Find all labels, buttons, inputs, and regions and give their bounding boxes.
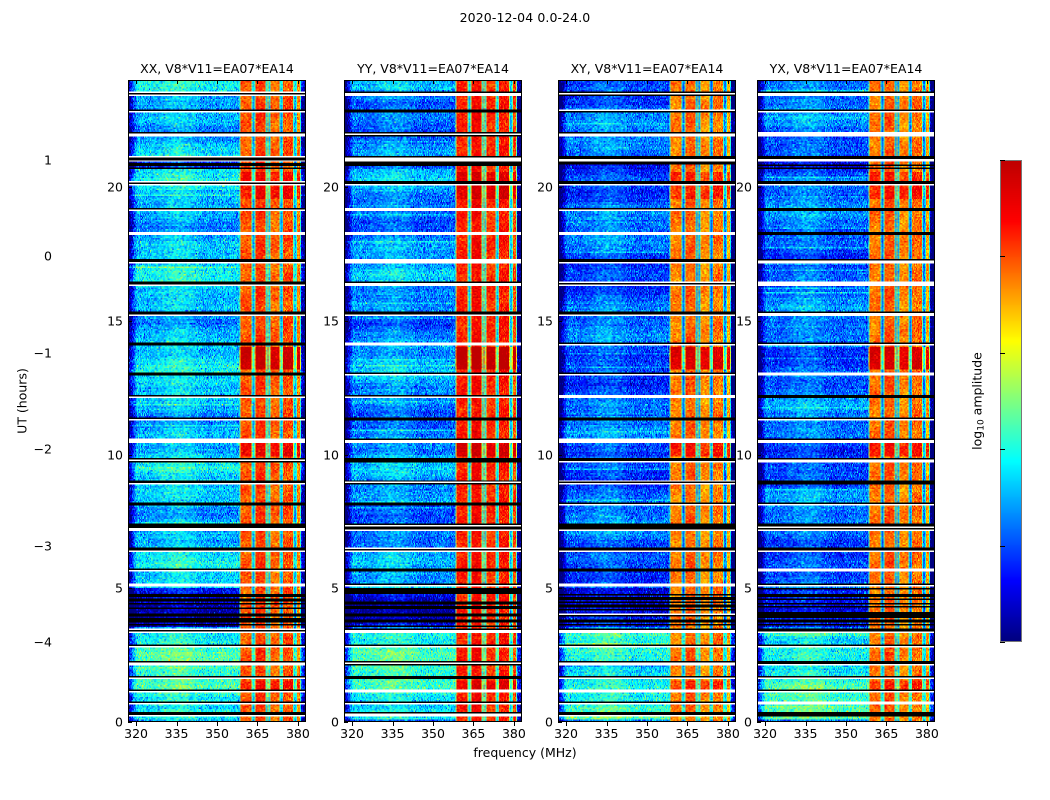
x-tick-label: 380: [502, 726, 526, 741]
y-tick-label: 0: [115, 715, 123, 730]
x-tick-mark-top: [433, 80, 434, 84]
x-tick-label: 380: [286, 726, 310, 741]
x-tick-label: 320: [124, 726, 148, 741]
x-tick-labels-xx: 320335350365380: [128, 726, 306, 742]
y-tick-label: 5: [331, 581, 339, 596]
panel-title-yy: YY, V8*V11=EA07*EA14: [344, 60, 522, 78]
x-tick-labels-xy: 320335350365380: [558, 726, 736, 742]
y-tick-label: 15: [107, 313, 123, 328]
waterfall-panel-yx: [757, 80, 935, 722]
y-tick-mark: [344, 722, 348, 723]
x-tick-label: 380: [915, 726, 939, 741]
y-tick-label: 15: [323, 313, 339, 328]
colorbar-tick-label: −4: [34, 635, 52, 650]
x-tick-label: 380: [716, 726, 740, 741]
x-tick-label: 365: [462, 726, 486, 741]
x-tick-label: 365: [246, 726, 270, 741]
x-tick-label: 335: [165, 726, 189, 741]
x-tick-label: 320: [753, 726, 777, 741]
y-tick-label: 5: [115, 581, 123, 596]
y-tick-label: 20: [736, 180, 752, 195]
y-tick-mark: [558, 455, 562, 456]
y-tick-label: 15: [736, 313, 752, 328]
colorbar-label: log10 amplitude: [970, 352, 985, 450]
x-tick-mark-top: [473, 80, 474, 84]
y-tick-label: 15: [537, 313, 553, 328]
y-tick-mark: [128, 722, 132, 723]
y-tick-mark: [128, 321, 132, 322]
x-tick-label: 320: [340, 726, 364, 741]
x-tick-label: 350: [834, 726, 858, 741]
x-tick-label: 320: [554, 726, 578, 741]
y-tick-mark: [558, 321, 562, 322]
waterfall-panel-xx: [128, 80, 306, 722]
y-tick-mark: [757, 187, 761, 188]
y-tick-label: 5: [545, 581, 553, 596]
y-tick-mark: [128, 187, 132, 188]
y-tick-mark: [558, 722, 562, 723]
y-tick-mark: [558, 588, 562, 589]
x-tick-mark-top: [177, 80, 178, 84]
x-tick-mark-top: [647, 80, 648, 84]
y-tick-mark: [344, 321, 348, 322]
x-tick-mark-top: [136, 80, 137, 84]
y-tick-mark: [128, 455, 132, 456]
colorbar-tick-label: −2: [34, 442, 52, 457]
x-tick-mark-top: [514, 80, 515, 84]
y-tick-label: 10: [736, 447, 752, 462]
colorbar-tick-label: −1: [34, 345, 52, 360]
x-tick-mark-top: [607, 80, 608, 84]
x-tick-label: 335: [381, 726, 405, 741]
y-tick-label: 10: [107, 447, 123, 462]
y-tick-mark: [757, 588, 761, 589]
x-tick-mark-top: [352, 80, 353, 84]
colorbar-tick-label: 0: [44, 249, 52, 264]
y-tick-mark: [344, 187, 348, 188]
x-tick-mark-top: [393, 80, 394, 84]
y-tick-mark: [757, 321, 761, 322]
colorbar-tick-label: 1: [44, 153, 52, 168]
y-tick-label: 10: [537, 447, 553, 462]
colorbar-tick-mark: [1000, 256, 1005, 257]
x-tick-mark-top: [765, 80, 766, 84]
x-tick-labels-yy: 320335350365380: [344, 726, 522, 742]
waterfall-panel-yy: [344, 80, 522, 722]
figure-canvas: 2020-12-04 0.0-24.0 frequency (MHz) UT (…: [0, 0, 1050, 800]
y-tick-label: 0: [744, 715, 752, 730]
x-tick-mark-top: [846, 80, 847, 84]
waterfall-panel-xy: [558, 80, 736, 722]
panel-title-yx: YX, V8*V11=EA07*EA14: [757, 60, 935, 78]
y-tick-mark: [757, 455, 761, 456]
colorbar-tick-mark: [1000, 642, 1005, 643]
colorbar-tick-mark: [1000, 449, 1005, 450]
y-tick-mark: [757, 722, 761, 723]
figure-suptitle: 2020-12-04 0.0-24.0: [0, 10, 1050, 25]
x-tick-mark-top: [927, 80, 928, 84]
colorbar-tick-label: −3: [34, 538, 52, 553]
x-tick-mark-top: [257, 80, 258, 84]
x-tick-label: 335: [794, 726, 818, 741]
y-tick-label: 5: [744, 581, 752, 596]
y-tick-label: 20: [107, 180, 123, 195]
x-tick-labels-yx: 320335350365380: [757, 726, 935, 742]
y-tick-label: 0: [331, 715, 339, 730]
y-tick-mark: [344, 455, 348, 456]
x-axis-label: frequency (MHz): [0, 745, 1050, 760]
colorbar-tick-mark: [1000, 160, 1005, 161]
x-tick-label: 350: [421, 726, 445, 741]
y-tick-label: 0: [545, 715, 553, 730]
x-tick-mark-top: [566, 80, 567, 84]
x-tick-mark-top: [728, 80, 729, 84]
y-tick-mark: [344, 588, 348, 589]
y-axis-label: UT (hours): [15, 368, 30, 434]
x-tick-mark-top: [886, 80, 887, 84]
x-tick-label: 350: [635, 726, 659, 741]
x-tick-label: 335: [595, 726, 619, 741]
x-tick-label: 365: [875, 726, 899, 741]
x-tick-mark-top: [806, 80, 807, 84]
x-tick-mark-top: [687, 80, 688, 84]
x-tick-mark-top: [217, 80, 218, 84]
colorbar-tick-mark: [1000, 546, 1005, 547]
colorbar: [1000, 160, 1022, 642]
y-tick-label: 20: [323, 180, 339, 195]
y-tick-label: 10: [323, 447, 339, 462]
y-tick-mark: [128, 588, 132, 589]
x-tick-label: 350: [205, 726, 229, 741]
x-tick-mark-top: [298, 80, 299, 84]
colorbar-tick-mark: [1000, 353, 1005, 354]
x-tick-label: 365: [676, 726, 700, 741]
y-tick-label: 20: [537, 180, 553, 195]
panel-title-xy: XY, V8*V11=EA07*EA14: [558, 60, 736, 78]
y-tick-mark: [558, 187, 562, 188]
panel-title-xx: XX, V8*V11=EA07*EA14: [128, 60, 306, 78]
